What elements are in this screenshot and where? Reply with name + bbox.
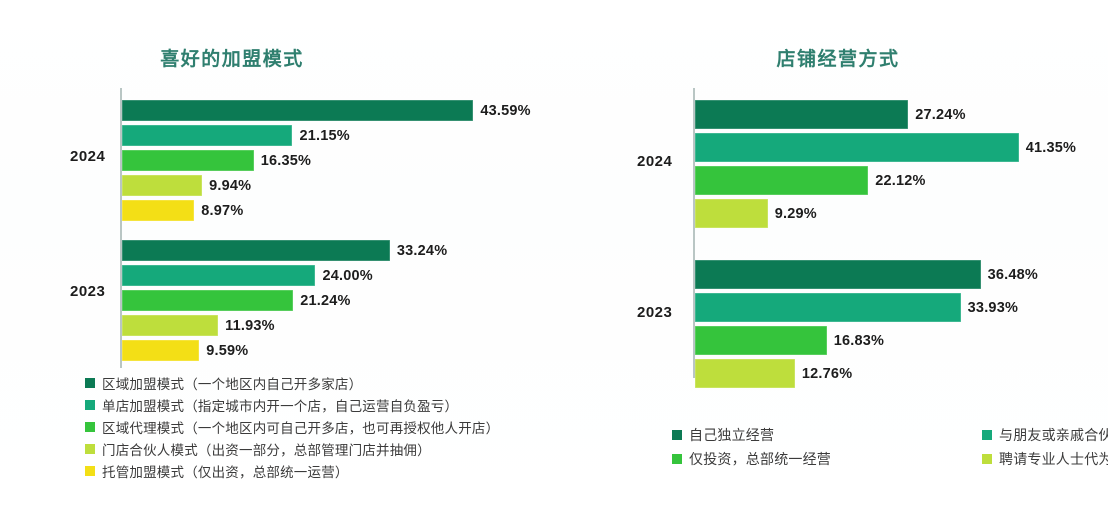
bar-value-label: 22.12% [875,173,925,189]
bar-store-operation-mode-2023-2 [695,326,827,355]
chart-panel-preferred-franchise-model: 喜好的加盟模式 43.59%21.15%16.35%9.94%8.97% 33.… [0,0,580,510]
bar-store-operation-mode-2023-3 [695,359,795,388]
bar-value-label: 21.24% [300,293,350,309]
bar-row: 9.59% [122,340,248,361]
axis-label-2023-left: 2023 [70,283,105,300]
bar-store-operation-mode-2023-0 [695,260,981,289]
bar-preferred-franchise-model-2023-3 [122,315,218,336]
bar-value-label: 43.59% [480,103,530,119]
bar-row: 33.24% [122,240,447,261]
bar-value-label: 41.35% [1026,140,1076,156]
bar-value-label: 9.59% [206,343,248,359]
bar-value-label: 8.97% [201,203,243,219]
bar-value-label: 33.24% [397,243,447,259]
bar-row: 41.35% [695,133,1076,162]
bar-value-label: 11.93% [225,318,275,334]
bar-value-label: 33.93% [968,300,1018,316]
bar-preferred-franchise-model-2024-3 [122,175,202,196]
bar-store-operation-mode-2024-0 [695,100,908,129]
legend-item-label: 与朋友或亲戚合伙经营 [999,425,1108,445]
legend-item-label: 区域代理模式（一个地区内可自己开多店，也可再授权他人开店） [102,417,499,437]
bar-row: 11.93% [122,315,275,336]
bar-value-label: 16.83% [834,333,884,349]
bar-value-label: 36.48% [988,267,1038,283]
legend-item-store-operation-mode-2[interactable]: 仅投资，总部统一经营 [672,448,982,470]
legend-item-label: 聘请专业人士代为经营 [999,449,1108,469]
axis-label-2023-right: 2023 [637,304,672,321]
plot-area-left: 43.59%21.15%16.35%9.94%8.97% 33.24%24.00… [120,88,550,368]
legend-item-label: 自己独立经营 [689,425,774,445]
legend-item-preferred-franchise-model-3[interactable]: 门店合伙人模式（出资一部分，总部管理门店并抽佣） [85,438,499,460]
chart-page: 喜好的加盟模式 43.59%21.15%16.35%9.94%8.97% 33.… [0,0,1108,510]
bar-row: 16.35% [122,150,311,171]
bar-row: 21.15% [122,125,350,146]
bar-value-label: 9.29% [775,206,817,222]
legend-item-store-operation-mode-3[interactable]: 聘请专业人士代为经营 [982,448,1108,470]
legend-swatch-icon [672,430,682,440]
legend-item-label: 托管加盟模式（仅出资，总部统一运营） [102,461,349,481]
axis-label-2024-left: 2024 [70,148,105,165]
bar-store-operation-mode-2024-1 [695,133,1019,162]
legend-item-label: 仅投资，总部统一经营 [689,449,831,469]
legend-right: 自己独立经营与朋友或亲戚合伙经营仅投资，总部统一经营聘请专业人士代为经营 [672,424,1108,470]
bar-value-label: 16.35% [261,153,311,169]
bar-preferred-franchise-model-2024-2 [122,150,254,171]
bar-row: 33.93% [695,293,1018,322]
bar-store-operation-mode-2023-1 [695,293,961,322]
bar-row: 16.83% [695,326,884,355]
legend-item-label: 单店加盟模式（指定城市内开一个店，自己运营自负盈亏） [102,395,458,415]
bar-row: 27.24% [695,100,966,129]
bar-row: 21.24% [122,290,351,311]
legend-swatch-icon [672,454,682,464]
page-title-left: 喜好的加盟模式 [0,44,522,71]
bar-row: 9.29% [695,199,817,228]
bar-row: 9.94% [122,175,251,196]
bar-preferred-franchise-model-2024-1 [122,125,292,146]
legend-swatch-icon [982,454,992,464]
bar-preferred-franchise-model-2023-0 [122,240,390,261]
page-title-right: 店铺经营方式 [574,44,1102,71]
bar-preferred-franchise-model-2024-4 [122,200,194,221]
bar-row: 43.59% [122,100,531,121]
bar-row: 24.00% [122,265,373,286]
legend-item-preferred-franchise-model-0[interactable]: 区域加盟模式（一个地区内自己开多家店） [85,372,499,394]
bar-row: 12.76% [695,359,852,388]
bar-preferred-franchise-model-2023-1 [122,265,315,286]
bar-preferred-franchise-model-2024-0 [122,100,473,121]
legend-swatch-icon [85,422,95,432]
legend-swatch-icon [85,466,95,476]
bar-value-label: 24.00% [322,268,372,284]
legend-item-label: 门店合伙人模式（出资一部分，总部管理门店并抽佣） [102,439,431,459]
bar-row: 8.97% [122,200,243,221]
legend-item-preferred-franchise-model-4[interactable]: 托管加盟模式（仅出资，总部统一运营） [85,460,499,482]
legend-swatch-icon [85,378,95,388]
legend-item-preferred-franchise-model-1[interactable]: 单店加盟模式（指定城市内开一个店，自己运营自负盈亏） [85,394,499,416]
bar-store-operation-mode-2024-2 [695,166,868,195]
bar-preferred-franchise-model-2023-4 [122,340,199,361]
bar-store-operation-mode-2024-3 [695,199,768,228]
legend-item-store-operation-mode-1[interactable]: 与朋友或亲戚合伙经营 [982,424,1108,446]
bar-row: 22.12% [695,166,926,195]
legend-item-store-operation-mode-0[interactable]: 自己独立经营 [672,424,982,446]
legend-item-label: 区域加盟模式（一个地区内自己开多家店） [102,373,362,393]
legend-swatch-icon [85,444,95,454]
bar-value-label: 21.15% [299,128,349,144]
legend-swatch-icon [85,400,95,410]
axis-label-2024-right: 2024 [637,153,672,170]
legend-left: 区域加盟模式（一个地区内自己开多家店）单店加盟模式（指定城市内开一个店，自己运营… [85,372,499,482]
bar-row: 36.48% [695,260,1038,289]
legend-item-preferred-franchise-model-2[interactable]: 区域代理模式（一个地区内可自己开多店，也可再授权他人开店） [85,416,499,438]
bar-value-label: 12.76% [802,366,852,382]
bar-value-label: 9.94% [209,178,251,194]
legend-swatch-icon [982,430,992,440]
plot-area-right: 27.24%41.35%22.12%9.29% 36.48%33.93%16.8… [693,88,1093,378]
bar-preferred-franchise-model-2023-2 [122,290,293,311]
bar-value-label: 27.24% [915,107,965,123]
